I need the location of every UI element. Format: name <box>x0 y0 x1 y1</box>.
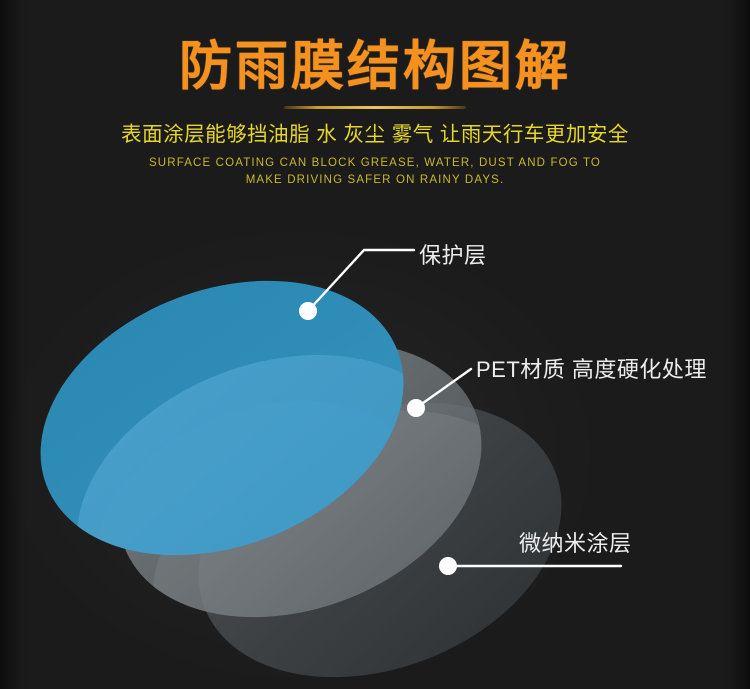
callout-coating-leader <box>439 557 621 575</box>
callout-pet-dot <box>407 399 425 417</box>
callout-protective-leader <box>299 250 414 320</box>
callout-leader-lines <box>0 0 750 689</box>
callout-protective-dot <box>299 302 317 320</box>
callout-pet-leader <box>407 369 471 417</box>
poster-canvas: 防雨膜结构图解 表面涂层能够挡油脂 水 灰尘 雾气 让雨天行车更加安全 SURF… <box>0 0 750 689</box>
callout-coating-dot <box>439 557 457 575</box>
